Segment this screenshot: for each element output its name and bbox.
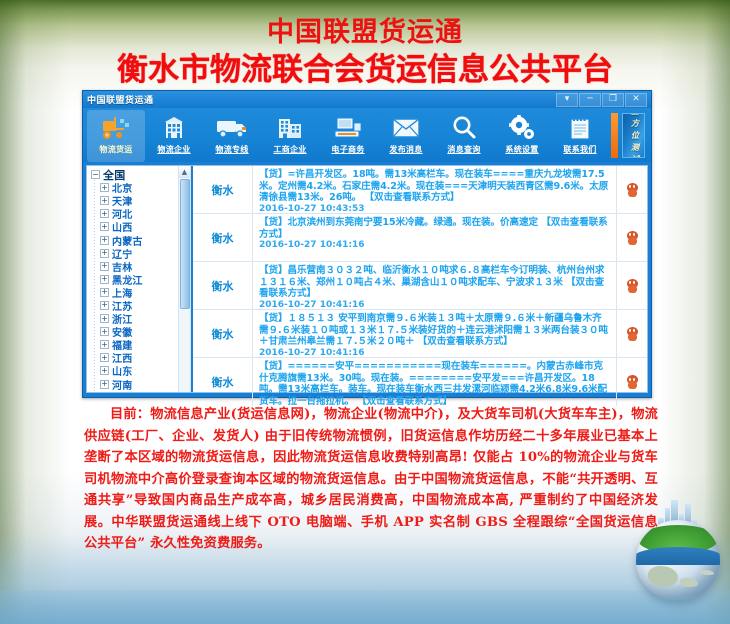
- forklift-icon: [101, 113, 131, 143]
- row-timestamp: 2016-10-27 10:43:53: [259, 204, 611, 214]
- table-row[interactable]: 衡水 【货】北京滨州到东莞南宁要15米冷藏。绿通。现在装。价高速定 【双击查看联…: [193, 214, 647, 262]
- tree-expander-icon[interactable]: +: [100, 301, 109, 310]
- magnifier-icon: [451, 113, 477, 143]
- tree-expander-icon[interactable]: +: [100, 314, 109, 323]
- toolbar-item-ecommerce[interactable]: 电子商务: [319, 110, 377, 162]
- background-bottom-ribbon: [0, 590, 730, 624]
- row-timestamp: 2016-10-27 10:41:16: [259, 348, 611, 358]
- tree-item-beijing[interactable]: + 北京: [89, 181, 178, 194]
- tree-vertical-scrollbar[interactable]: ▲: [178, 166, 190, 392]
- tree-label-hubei: 湖北: [112, 390, 132, 392]
- tree-item-jiangxi[interactable]: + 江西: [89, 351, 178, 364]
- row-body[interactable]: 【货】北京滨州到东莞南宁要15米冷藏。绿通。现在装。价高速定 【双击查看联系方式…: [253, 214, 617, 261]
- tree-item-anhui[interactable]: + 安徽: [89, 325, 178, 338]
- row-city-label: 衡水: [193, 358, 253, 406]
- description-paragraph: 目前：物流信息产业(货运信息网)，物流企业(物流中介)，及大货车司机(大货车车主…: [84, 404, 658, 555]
- toolbar-label-logistics-line: 物流专线: [215, 144, 248, 155]
- tree-expander-icon[interactable]: +: [100, 196, 109, 205]
- row-body[interactable]: 【货】=许昌开发区。18吨。需13米高栏车。现在装车====重庆九龙坡需17.5…: [253, 166, 617, 213]
- notepad-icon: [568, 113, 592, 143]
- tree-expander-icon[interactable]: +: [100, 327, 109, 336]
- tree-expander-icon[interactable]: +: [100, 183, 109, 192]
- row-body[interactable]: 【货】======安平===========现在装车======。内蒙古赤峰市克…: [253, 358, 617, 406]
- toolbar-item-contact-us[interactable]: 联系我们: [551, 110, 609, 162]
- toolbar-label-system-settings: 系统设置: [505, 144, 538, 155]
- row-timestamp: 2016-10-27 10:41:16: [259, 300, 611, 310]
- toolbar-item-logistics-freight[interactable]: 物流货运: [87, 110, 145, 162]
- building-icon: [161, 113, 187, 143]
- row-message-text: 【货】１８５１３ 安平到南京需９.６米装１３吨＋太原需９.６米＋新疆乌鲁木齐需９…: [259, 313, 611, 348]
- row-action-cell[interactable]: [617, 358, 647, 406]
- tree-expander-icon[interactable]: +: [100, 249, 109, 258]
- window-title-text: 中国联盟货运通: [87, 93, 154, 106]
- toolbar-label-message-search: 消息查询: [447, 144, 480, 155]
- toolbar-divider: [611, 113, 618, 158]
- toolbar-item-system-settings[interactable]: 系统设置: [493, 110, 551, 162]
- minimize-icon[interactable]: ─: [579, 93, 601, 107]
- toolbar-item-publish-message[interactable]: 发布消息: [377, 110, 435, 162]
- window-controls: ▾ ─ ❐ ✕: [556, 93, 647, 107]
- tree-expander-icon[interactable]: −: [91, 170, 100, 179]
- row-city-label: 衡水: [193, 166, 253, 213]
- qq-contact-icon[interactable]: [627, 231, 638, 245]
- maximize-icon[interactable]: ❐: [602, 93, 624, 107]
- tree-item-shandong[interactable]: + 山东: [89, 364, 178, 377]
- row-city-label: 衡水: [193, 214, 253, 261]
- tree-expander-icon[interactable]: +: [100, 262, 109, 271]
- toolbar-item-logistics-enterprise[interactable]: 物流企业: [145, 110, 203, 162]
- tree-expander-icon[interactable]: +: [100, 366, 109, 375]
- page-title: 中国联盟货运通 衡水市物流联合会货运信息公共平台: [0, 16, 730, 90]
- tree-expander-icon[interactable]: +: [100, 222, 109, 231]
- gear-icon: [508, 113, 536, 143]
- main-toolbar: 物流货运 物流企业: [83, 108, 651, 162]
- row-message-text: 【货】昌乐营南３０３２吨、临沂衡水１０吨求６.８高栏车今订明装、杭州台州求１３１…: [259, 265, 611, 300]
- row-body[interactable]: 【货】１８５１３ 安平到南京需９.６米装１３吨＋太原需９.６米＋新疆乌鲁木齐需９…: [253, 310, 617, 357]
- factory-icon: [276, 113, 304, 143]
- qq-contact-icon[interactable]: [627, 279, 638, 293]
- tree-expander-icon[interactable]: +: [100, 340, 109, 349]
- toolbar-label-logistics-freight: 物流货运: [99, 144, 132, 155]
- row-timestamp: 2016-10-27 10:41:16: [259, 240, 611, 250]
- scrollbar-thumb[interactable]: [180, 179, 190, 309]
- tree-item-inner-mongolia[interactable]: + 内蒙古: [89, 233, 178, 246]
- ecommerce-icon: [333, 113, 363, 143]
- close-icon[interactable]: ✕: [625, 93, 647, 107]
- qq-contact-icon[interactable]: [627, 375, 638, 389]
- toolbar-label-contact-us: 联系我们: [563, 144, 596, 155]
- row-city-label: 衡水: [193, 262, 253, 309]
- qq-contact-icon[interactable]: [627, 183, 638, 197]
- tree-item-heilongjiang[interactable]: + 黑龙江: [89, 273, 178, 286]
- row-body[interactable]: 【货】昌乐营南３０３２吨、临沂衡水１０吨求６.８高栏车今订明装、杭州台州求１３１…: [253, 262, 617, 309]
- tree-expander-icon[interactable]: +: [100, 353, 109, 362]
- scroll-up-icon[interactable]: ▲: [179, 166, 191, 178]
- table-row[interactable]: 衡水 【货】昌乐营南３０３２吨、临沂衡水１０吨求６.８高栏车今订明装、杭州台州求…: [193, 262, 647, 310]
- tree-expander-icon[interactable]: +: [100, 236, 109, 245]
- tree-item-jilin[interactable]: + 吉林: [89, 260, 178, 273]
- tree-expander-icon[interactable]: +: [100, 380, 109, 389]
- qq-contact-icon[interactable]: [627, 327, 638, 341]
- tree-item-tianjin[interactable]: + 天津: [89, 194, 178, 207]
- tree-expander-icon[interactable]: +: [100, 288, 109, 297]
- toolbar-label-publish-message: 发布消息: [389, 144, 422, 155]
- row-city-label: 衡水: [193, 310, 253, 357]
- table-row[interactable]: 衡水 【货】=许昌开发区。18吨。需13米高栏车。现在装车====重庆九龙坡需1…: [193, 166, 647, 214]
- tree-item-henan[interactable]: + 河南: [89, 378, 178, 391]
- promo-banner-line-2: 要全方位测试: [631, 113, 644, 158]
- row-message-text: 【货】=许昌开发区。18吨。需13米高栏车。现在装车====重庆九龙坡需17.5…: [259, 169, 611, 204]
- region-tree: − 全国 + 北京 + 天津 + 河北 + 山西: [87, 166, 178, 392]
- window-content: − 全国 + 北京 + 天津 + 河北 + 山西: [86, 165, 648, 393]
- window-titlebar: 中国联盟货运通 ▾ ─ ❐ ✕: [83, 91, 651, 108]
- table-row[interactable]: 衡水 【货】１８５１３ 安平到南京需９.６米装１３吨＋太原需９.６米＋新疆乌鲁木…: [193, 310, 647, 358]
- tree-guide-line: [94, 180, 95, 392]
- toolbar-item-message-search[interactable]: 消息查询: [435, 110, 493, 162]
- tree-item-zhejiang[interactable]: + 浙江: [89, 312, 178, 325]
- row-action-cell[interactable]: [617, 262, 647, 309]
- freight-message-list: 衡水 【货】=许昌开发区。18吨。需13米高栏车。现在装车====重庆九龙坡需1…: [191, 166, 647, 392]
- tree-item-fujian[interactable]: + 福建: [89, 338, 178, 351]
- application-window: 中国联盟货运通 ▾ ─ ❐ ✕ 物流货运: [82, 90, 652, 398]
- tree-item-nationwide[interactable]: − 全国: [89, 168, 178, 181]
- row-action-cell[interactable]: [617, 166, 647, 213]
- toolbar-item-industrial-enterprise[interactable]: 工商企业: [261, 110, 319, 162]
- tree-item-liaoning[interactable]: + 辽宁: [89, 247, 178, 260]
- toolbar-label-logistics-enterprise: 物流企业: [157, 144, 190, 155]
- toolbar-label-industrial-enterprise: 工商企业: [273, 144, 306, 155]
- row-message-text: 【货】======安平===========现在装车======。内蒙古赤峰市克…: [259, 361, 611, 407]
- tree-expander-icon[interactable]: +: [100, 275, 109, 284]
- tree-item-shanghai[interactable]: + 上海: [89, 286, 178, 299]
- tree-item-shanxi[interactable]: + 山西: [89, 220, 178, 233]
- row-message-text: 【货】北京滨州到东莞南宁要15米冷藏。绿通。现在装。价高速定 【双击查看联系方式…: [259, 217, 611, 240]
- title-line-2: 衡水市物流联合会货运信息公共平台: [0, 50, 730, 90]
- table-row[interactable]: 衡水 【货】======安平===========现在装车======。内蒙古赤…: [193, 358, 647, 406]
- dropdown-icon[interactable]: ▾: [556, 93, 578, 107]
- toolbar-item-logistics-line[interactable]: 物流专线: [203, 110, 261, 162]
- region-tree-panel: − 全国 + 北京 + 天津 + 河北 + 山西: [87, 166, 191, 392]
- promo-banner[interactable]: 各位会员 要全方位测试 “货运通” 功能!: [622, 113, 645, 158]
- tree-expander-icon[interactable]: +: [100, 209, 109, 218]
- tree-item-jiangsu[interactable]: + 江苏: [89, 299, 178, 312]
- truck-icon: [216, 113, 248, 143]
- toolbar-label-ecommerce: 电子商务: [331, 144, 364, 155]
- tree-item-hubei[interactable]: + 湖北: [89, 391, 178, 392]
- envelope-icon: [391, 113, 421, 143]
- row-action-cell[interactable]: [617, 214, 647, 261]
- description-text: 目前：物流信息产业(货运信息网)，物流企业(物流中介)，及大货车司机(大货车车主…: [84, 404, 658, 555]
- title-line-1: 中国联盟货运通: [0, 16, 730, 50]
- tree-item-hebei[interactable]: + 河北: [89, 207, 178, 220]
- row-action-cell[interactable]: [617, 310, 647, 357]
